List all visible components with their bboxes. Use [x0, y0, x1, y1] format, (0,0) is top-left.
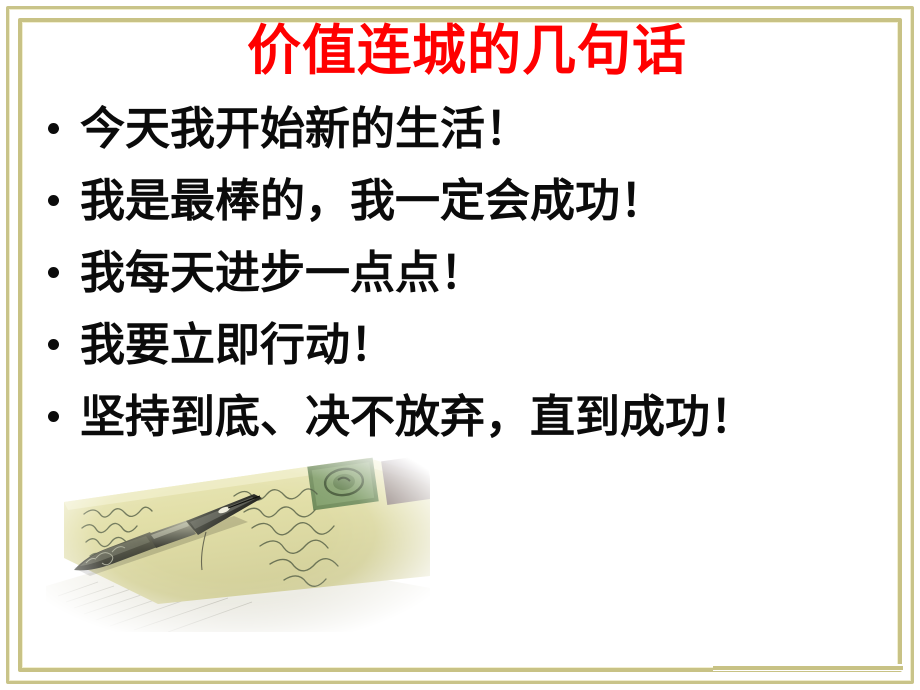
slide-canvas: 价值连城的几句话: [0, 0, 920, 690]
bullet-item-4: 我要立即行动！: [36, 308, 886, 380]
slide-title: 价值连城的几句话: [0, 22, 920, 79]
bullet-text-5: 坚持到底、决不放弃，直到成功！: [80, 394, 755, 439]
bullet-dot-icon: [48, 411, 59, 422]
bullet-item-5: 坚持到底、决不放弃，直到成功！: [36, 380, 886, 452]
bullet-dot-icon: [48, 123, 59, 134]
bullet-dot-icon: [48, 195, 59, 206]
bullet-dot-icon: [48, 267, 59, 278]
bullet-item-3: 我每天进步一点点！: [36, 236, 886, 308]
bullet-list: 今天我开始新的生活！ 我是最棒的，我一定会成功！ 我每天进步一点点！ 我要立即行…: [36, 92, 886, 452]
bullet-text-4: 我要立即行动！: [80, 322, 395, 367]
bullet-item-2: 我是最棒的，我一定会成功！: [36, 164, 886, 236]
bullet-item-1: 今天我开始新的生活！: [36, 92, 886, 164]
bullet-text-3: 我每天进步一点点！: [80, 250, 485, 295]
fountain-pen-on-handwritten-letter-photo: [38, 436, 430, 632]
bullet-dot-icon: [48, 339, 59, 350]
bullet-text-1: 今天我开始新的生活！: [80, 106, 530, 151]
slide-frame-bottom-notch: [713, 664, 903, 671]
bullet-text-2: 我是最棒的，我一定会成功！: [80, 178, 665, 223]
